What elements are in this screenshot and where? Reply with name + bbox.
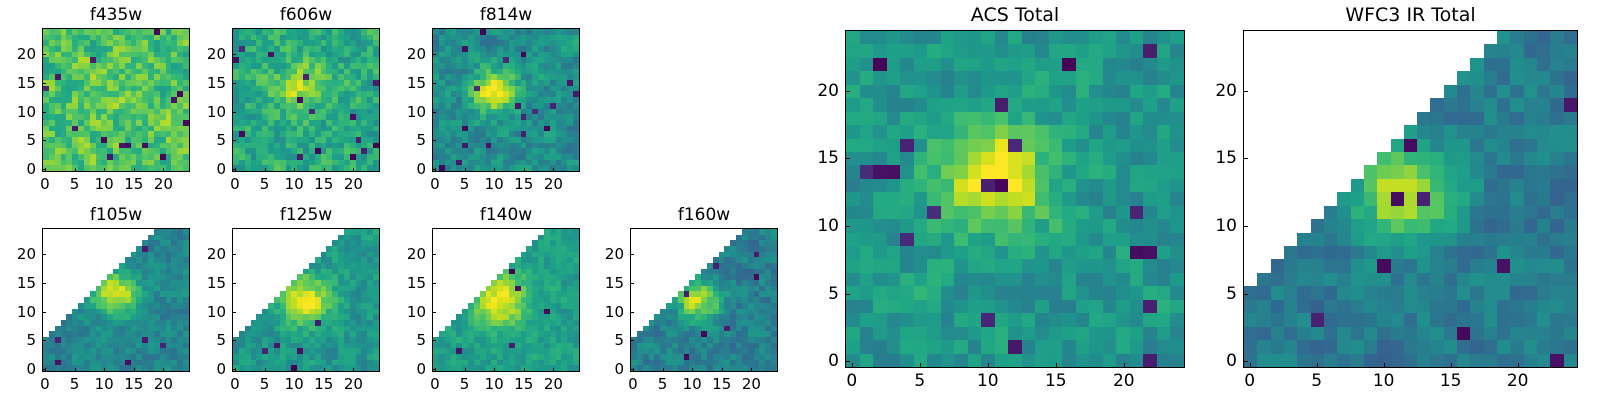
heatmap-cell — [160, 109, 166, 115]
heatmap-cell — [451, 257, 457, 263]
heatmap-cell — [119, 252, 125, 258]
heatmap-cell — [291, 74, 297, 80]
heatmap-cell — [433, 354, 439, 360]
heatmap-cell — [468, 143, 474, 149]
heatmap-cell — [538, 52, 544, 58]
heatmap-cell — [113, 74, 119, 80]
heatmap-cell — [643, 354, 649, 360]
heatmap-cell — [55, 235, 61, 241]
heatmap-cell — [113, 35, 119, 41]
heatmap-cell — [649, 229, 655, 235]
heatmap-cell — [297, 52, 303, 58]
heatmap-cell — [367, 257, 373, 263]
heatmap-cell — [356, 148, 362, 154]
heatmap-cell — [160, 240, 166, 246]
heatmap-cell — [1049, 125, 1063, 138]
heatmap-cell — [660, 286, 666, 292]
heatmap-cell — [183, 120, 189, 126]
heatmap-cell — [689, 326, 695, 332]
heatmap-cell — [274, 303, 280, 309]
heatmap-cell — [526, 343, 532, 349]
heatmap-cell — [491, 229, 497, 235]
heatmap-cell — [544, 354, 550, 360]
heatmap-cell — [719, 326, 725, 332]
heatmap-cell — [55, 120, 61, 126]
heatmap-cell — [262, 137, 268, 143]
heatmap-cell — [297, 114, 303, 120]
heatmap-cell — [719, 252, 725, 258]
heatmap-cell — [1008, 206, 1022, 219]
heatmap-cell — [1170, 246, 1184, 259]
heatmap-cell — [303, 235, 309, 241]
heatmap-cell — [538, 154, 544, 160]
y-tick-label: 5 — [26, 331, 36, 349]
heatmap-cell — [233, 29, 239, 35]
heatmap-cell — [142, 114, 148, 120]
heatmap-cell — [373, 52, 379, 58]
heatmap-cell — [43, 297, 49, 303]
heatmap-cell — [321, 303, 327, 309]
heatmap-cell — [544, 69, 550, 75]
heatmap-cell — [631, 331, 637, 337]
heatmap-cell — [251, 154, 257, 160]
heatmap-cell — [268, 29, 274, 35]
heatmap-cell — [730, 343, 736, 349]
heatmap-cell — [526, 354, 532, 360]
heatmap-cell — [256, 269, 262, 275]
heatmap-cell — [131, 246, 137, 252]
heatmap-cell — [771, 297, 777, 303]
heatmap-cell — [113, 360, 119, 366]
heatmap-cell — [49, 91, 55, 97]
heatmap-cell — [251, 126, 257, 132]
heatmap-cell — [148, 57, 154, 63]
heatmap-cell — [154, 263, 160, 269]
heatmap-cell — [350, 286, 356, 292]
heatmap-cell — [373, 74, 379, 80]
heatmap-cell — [356, 303, 362, 309]
heatmap-cell — [291, 120, 297, 126]
heatmap-cell — [538, 331, 544, 337]
heatmap-cell — [350, 69, 356, 75]
heatmap-cell — [643, 263, 649, 269]
heatmap-cell — [332, 331, 338, 337]
heatmap-cell — [154, 120, 160, 126]
heatmap-cell — [456, 46, 462, 52]
heatmap-cell — [503, 86, 509, 92]
heatmap-cell — [445, 143, 451, 149]
heatmap-cell — [1076, 192, 1090, 205]
heatmap-cell — [367, 252, 373, 258]
heatmap-cell — [367, 229, 373, 235]
heatmap-cell — [291, 235, 297, 241]
heatmap-cell — [256, 80, 262, 86]
heatmap-cell — [113, 57, 119, 63]
heatmap-cell — [356, 326, 362, 332]
heatmap-cell — [637, 269, 643, 275]
heatmap-cell — [84, 274, 90, 280]
heatmap-cell — [730, 274, 736, 280]
heatmap-cell — [451, 280, 457, 286]
heatmap-cell — [439, 63, 445, 69]
y-tick-mark — [42, 254, 46, 255]
heatmap-cell — [239, 52, 245, 58]
heatmap-cell — [730, 303, 736, 309]
heatmap-cell — [344, 246, 350, 252]
heatmap-cell — [968, 233, 982, 246]
heatmap-cell — [860, 125, 874, 138]
heatmap-cell — [84, 109, 90, 115]
heatmap-cell — [72, 286, 78, 292]
heatmap-cell — [1062, 31, 1076, 44]
heatmap-cell — [643, 280, 649, 286]
heatmap-cell — [474, 246, 480, 252]
heatmap-cell — [887, 98, 901, 111]
heatmap-cell — [55, 86, 61, 92]
heatmap-cell — [43, 97, 49, 103]
heatmap-cell — [113, 326, 119, 332]
heatmap-cell — [286, 137, 292, 143]
x-tick-label: 15 — [314, 375, 333, 393]
heatmap-cell — [573, 114, 579, 120]
heatmap-cell — [567, 80, 573, 86]
heatmap-cell — [754, 263, 760, 269]
heatmap-cell — [900, 192, 914, 205]
heatmap-cell — [765, 257, 771, 263]
heatmap-cell — [326, 148, 332, 154]
heatmap-cell — [113, 229, 119, 235]
heatmap-cell — [486, 148, 492, 154]
heatmap-cell — [491, 354, 497, 360]
heatmap-cell — [456, 309, 462, 315]
heatmap-cell — [356, 137, 362, 143]
heatmap-cell — [532, 252, 538, 258]
heatmap-cell — [672, 229, 678, 235]
heatmap-cell — [245, 252, 251, 258]
heatmap-cell — [113, 263, 119, 269]
heatmap-cell — [131, 63, 137, 69]
heatmap-cell — [567, 343, 573, 349]
heatmap-cell — [297, 365, 303, 371]
heatmap-cell — [707, 326, 713, 332]
heatmap-cell — [256, 29, 262, 35]
heatmap-cell — [309, 257, 315, 263]
heatmap-cell — [900, 85, 914, 98]
heatmap-cell — [356, 63, 362, 69]
heatmap-cell — [521, 137, 527, 143]
heatmap-cell — [256, 360, 262, 366]
heatmap-cell — [486, 52, 492, 58]
heatmap-cell — [1143, 152, 1157, 165]
heatmap-cell — [1143, 139, 1157, 152]
heatmap-cell — [719, 240, 725, 246]
heatmap-cell — [326, 86, 332, 92]
heatmap-cell — [72, 263, 78, 269]
heatmap-cell — [573, 52, 579, 58]
heatmap-cell — [509, 348, 515, 354]
heatmap-cell — [43, 109, 49, 115]
heatmap-cell — [303, 109, 309, 115]
heatmap-cell — [1157, 152, 1171, 165]
heatmap-cell — [367, 52, 373, 58]
heatmap-cell — [503, 52, 509, 58]
heatmap-cell — [643, 337, 649, 343]
heatmap-cell — [177, 160, 183, 166]
heatmap-cell — [268, 246, 274, 252]
heatmap-cell — [280, 320, 286, 326]
heatmap-cell — [544, 46, 550, 52]
heatmap-cell — [274, 348, 280, 354]
heatmap-cell — [96, 131, 102, 137]
heatmap-cell — [684, 348, 690, 354]
heatmap-cell — [765, 229, 771, 235]
heatmap-cell — [262, 354, 268, 360]
heatmap-cell — [55, 69, 61, 75]
heatmap-cell — [474, 314, 480, 320]
panel-f814w: f814w0055101015152020 — [0, 0, 1600, 400]
heatmap-cell — [154, 303, 160, 309]
heatmap-cell — [538, 365, 544, 371]
heatmap-cell — [119, 103, 125, 109]
heatmap-cell — [491, 35, 497, 41]
heatmap-cell — [765, 343, 771, 349]
heatmap-cell — [538, 97, 544, 103]
heatmap-cell — [695, 343, 701, 349]
heatmap-cell — [503, 131, 509, 137]
heatmap-cell — [491, 326, 497, 332]
heatmap-cell — [326, 91, 332, 97]
heatmap-cell — [456, 286, 462, 292]
heatmap-cell — [119, 314, 125, 320]
heatmap-cell — [754, 274, 760, 280]
heatmap-cell — [297, 165, 303, 171]
heatmap-cell — [96, 348, 102, 354]
heatmap-cell — [361, 109, 367, 115]
heatmap-cell — [160, 286, 166, 292]
heatmap-cell — [538, 91, 544, 97]
heatmap-cell — [49, 269, 55, 275]
heatmap-cell — [251, 314, 257, 320]
heatmap-cell — [160, 29, 166, 35]
heatmap-cell — [326, 280, 332, 286]
heatmap-cell — [171, 46, 177, 52]
heatmap-cell — [433, 343, 439, 349]
heatmap-cell — [480, 280, 486, 286]
heatmap-cell — [462, 297, 468, 303]
heatmap-cell — [713, 354, 719, 360]
heatmap-cell — [526, 309, 532, 315]
heatmap-cell — [338, 297, 344, 303]
heatmap-cell — [1035, 192, 1049, 205]
heatmap-cell — [119, 143, 125, 149]
heatmap-cell — [526, 320, 532, 326]
heatmap-cell — [361, 246, 367, 252]
heatmap-cell — [321, 91, 327, 97]
heatmap-cell — [1103, 44, 1117, 57]
heatmap-cell — [78, 137, 84, 143]
heatmap-cell — [107, 246, 113, 252]
heatmap-cell — [927, 71, 941, 84]
x-tick-mark — [324, 168, 325, 172]
heatmap-cell — [491, 114, 497, 120]
heatmap-cell — [526, 69, 532, 75]
heatmap-cell — [280, 114, 286, 120]
heatmap-cell — [107, 35, 113, 41]
heatmap-cell — [707, 360, 713, 366]
heatmap-cell — [119, 320, 125, 326]
heatmap-cell — [701, 291, 707, 297]
heatmap-cell — [567, 154, 573, 160]
heatmap-cell — [119, 29, 125, 35]
heatmap-cell — [61, 148, 67, 154]
heatmap-cell — [183, 354, 189, 360]
heatmap-cell — [61, 52, 67, 58]
heatmap-cell — [297, 46, 303, 52]
heatmap-cell — [544, 74, 550, 80]
heatmap-cell — [1116, 139, 1130, 152]
heatmap-cell — [55, 74, 61, 80]
y-tick-label: 5 — [416, 131, 426, 149]
heatmap-cell — [660, 263, 666, 269]
heatmap-cell — [503, 303, 509, 309]
heatmap-cell — [90, 297, 96, 303]
heatmap-cell — [995, 206, 1009, 219]
heatmap-cell — [666, 309, 672, 315]
heatmap-cell — [125, 291, 131, 297]
heatmap-cell — [515, 337, 521, 343]
heatmap-cell — [280, 97, 286, 103]
heatmap-cell — [462, 29, 468, 35]
heatmap-cell — [233, 103, 239, 109]
heatmap-cell — [350, 343, 356, 349]
heatmap-cell — [90, 286, 96, 292]
heatmap-cell — [914, 192, 928, 205]
heatmap-cell — [887, 44, 901, 57]
heatmap-cell — [672, 240, 678, 246]
heatmap-cell — [1089, 44, 1103, 57]
heatmap-cell — [456, 120, 462, 126]
heatmap-cell — [660, 297, 666, 303]
heatmap-cell — [503, 74, 509, 80]
heatmap-cell — [445, 86, 451, 92]
heatmap-cell — [297, 40, 303, 46]
heatmap-cell — [439, 97, 445, 103]
heatmap-cell — [291, 86, 297, 92]
heatmap-cell — [177, 246, 183, 252]
heatmap-cell — [968, 44, 982, 57]
heatmap-cell — [1170, 165, 1184, 178]
heatmap-cell — [303, 148, 309, 154]
heatmap-cell — [730, 354, 736, 360]
heatmap-cell — [771, 343, 777, 349]
heatmap-cell — [1170, 71, 1184, 84]
heatmap-cell — [532, 103, 538, 109]
y-tick-mark — [42, 369, 46, 370]
heatmap-cell — [544, 52, 550, 58]
heatmap-cell — [66, 303, 72, 309]
heatmap-cell — [480, 360, 486, 366]
heatmap-cell — [171, 165, 177, 171]
heatmap-cell — [107, 240, 113, 246]
heatmap-cell — [480, 229, 486, 235]
heatmap-cell — [66, 57, 72, 63]
heatmap-cell — [927, 125, 941, 138]
heatmap-cell — [573, 69, 579, 75]
heatmap-cell — [78, 97, 84, 103]
heatmap-cell — [730, 280, 736, 286]
heatmap-cell — [96, 309, 102, 315]
heatmap-cell — [900, 139, 914, 152]
heatmap-cell — [262, 326, 268, 332]
heatmap-cell — [503, 235, 509, 241]
heatmap-cell — [695, 360, 701, 366]
heatmap-cell — [262, 252, 268, 258]
heatmap-cell — [361, 348, 367, 354]
heatmap-cell — [268, 131, 274, 137]
heatmap-cell — [286, 46, 292, 52]
heatmap-cell — [451, 160, 457, 166]
heatmap-cell — [666, 229, 672, 235]
heatmap-cell — [119, 365, 125, 371]
heatmap-cell — [78, 86, 84, 92]
heatmap-cell — [183, 280, 189, 286]
heatmap-cell — [503, 309, 509, 315]
heatmap-cell — [631, 274, 637, 280]
heatmap-cell — [742, 337, 748, 343]
heatmap-cell — [262, 131, 268, 137]
heatmap-cell — [90, 143, 96, 149]
heatmap-cell — [1022, 165, 1036, 178]
heatmap-cell — [672, 331, 678, 337]
heatmap-cell — [1062, 152, 1076, 165]
heatmap-cell — [72, 360, 78, 366]
heatmap-cell — [462, 348, 468, 354]
heatmap-cell — [1157, 125, 1171, 138]
heatmap-cell — [309, 326, 315, 332]
heatmap-cell — [84, 74, 90, 80]
heatmap-cell — [742, 252, 748, 258]
heatmap-cell — [344, 143, 350, 149]
heatmap-cell — [321, 343, 327, 349]
heatmap-cell — [684, 274, 690, 280]
x-tick-mark — [553, 368, 554, 372]
heatmap-cell — [154, 29, 160, 35]
heatmap-cell — [456, 109, 462, 115]
heatmap-cell — [1076, 206, 1090, 219]
heatmap-cell — [532, 297, 538, 303]
heatmap-cell — [361, 69, 367, 75]
heatmap-cell — [297, 291, 303, 297]
heatmap-cell — [90, 240, 96, 246]
heatmap-cell — [321, 86, 327, 92]
heatmap-cell — [445, 331, 451, 337]
heatmap-cell — [239, 160, 245, 166]
heatmap-cell — [107, 126, 113, 132]
heatmap-cell — [707, 314, 713, 320]
heatmap-cell — [678, 240, 684, 246]
heatmap-cell — [61, 314, 67, 320]
heatmap-cell — [297, 74, 303, 80]
heatmap-cell — [678, 320, 684, 326]
heatmap-cell — [101, 252, 107, 258]
heatmap-cell — [497, 154, 503, 160]
heatmap-cell — [561, 240, 567, 246]
heatmap-cell — [748, 235, 754, 241]
heatmap-cell — [66, 114, 72, 120]
heatmap-cell — [326, 80, 332, 86]
heatmap-cell — [78, 309, 84, 315]
heatmap-cell — [643, 348, 649, 354]
